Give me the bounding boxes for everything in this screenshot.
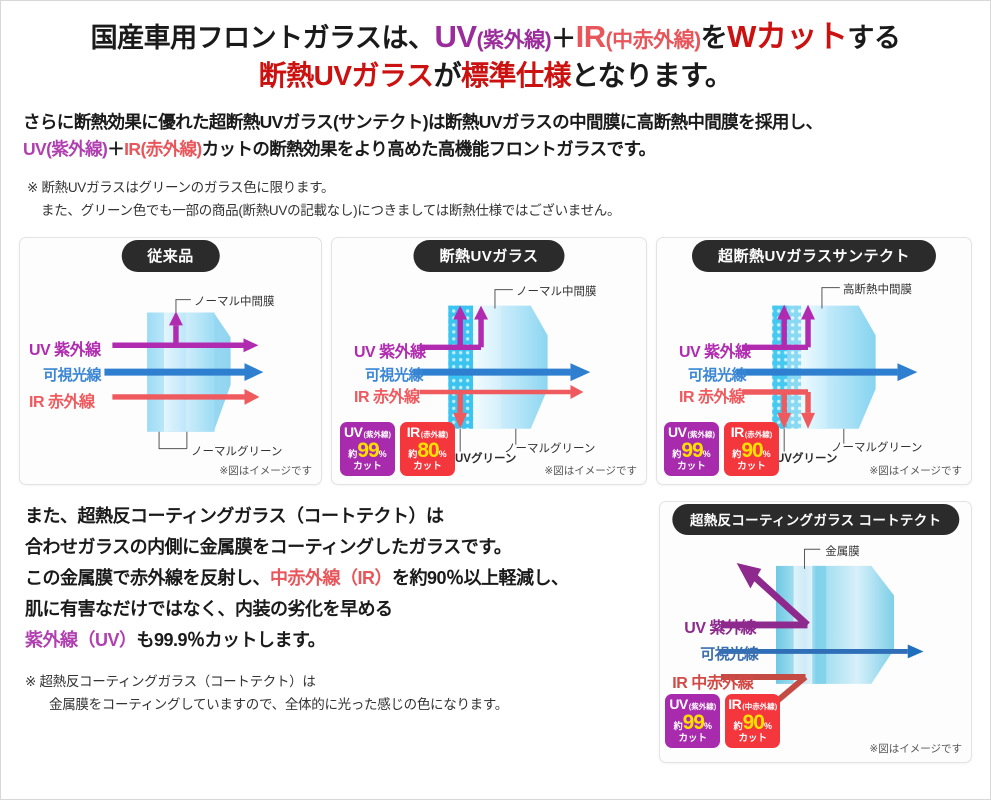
leader-top-conventional: ノーマル中間膜 — [194, 293, 275, 309]
label-visible-coatect: 可視光線 — [700, 643, 758, 664]
sub-line-1: さらに断熱効果に優れた超断熱UVガラス(サンテクト)は断熱UVガラスの中間膜に高… — [23, 109, 968, 136]
heading-seg-1: 国産車用フロントガラスは、 — [91, 23, 435, 53]
top-note-1: ※ 断熱UVガラスはグリーンのガラス色に限ります。 — [27, 177, 968, 200]
image-note-suntect: ※図はイメージです — [869, 463, 962, 478]
top-notes: ※ 断熱UVガラスはグリーンのガラス色に限ります。 また、グリーン色でも一部の商… — [1, 163, 990, 223]
badge-ir-top-4: IR(中赤外線) — [725, 697, 780, 711]
badges-coatect: UV(紫外線) 約99% カット IR(中赤外線) 約90% カット — [665, 694, 780, 748]
badge-ir-sub-3: (赤外線) — [745, 431, 773, 439]
badge-ir-main-4: IR — [728, 697, 741, 711]
heading-tail: となります。 — [571, 60, 732, 91]
bottom-line-3b: を約90％以上軽減し、 — [392, 568, 569, 588]
label-visible-uvir: 可視光線 — [365, 364, 423, 385]
badge-uv-num: 99 — [357, 440, 378, 461]
badge-ir-num-4: 90 — [743, 712, 764, 733]
heading-uv-paren: (紫外線) — [477, 29, 552, 52]
heading-plus: ＋ — [551, 25, 576, 53]
label-ir-suntect: IR 赤外線 — [679, 383, 744, 407]
bottom-line-2: 合わせガラスの内側に金属膜をコーティングしたガラスです。 — [19, 532, 650, 563]
leader-top-uvir: ノーマル中間膜 — [516, 283, 597, 299]
panel-title-conventional: 従来品 — [121, 240, 220, 272]
sub-description: さらに断熱効果に優れた超断熱UVガラス(サンテクト)は断熱UVガラスの中間膜に高… — [1, 97, 990, 163]
label-ir-uvir: IR 赤外線 — [354, 383, 419, 407]
label-visible-suntect: 可視光線 — [688, 364, 746, 385]
heading-red-1: 断熱UVガラス — [259, 60, 434, 91]
badge-ir-pct: % — [439, 450, 447, 459]
image-note-coatect: ※図はイメージです — [869, 741, 962, 756]
heading-line-1: 国産車用フロントガラスは、UV(紫外線)＋IR(中赤外線)をWカットする — [11, 19, 980, 55]
badge-uv-sub-3: (紫外線) — [687, 431, 715, 439]
badge-ir-mid: 約80% — [400, 440, 455, 461]
badge-ir-uvir: IR(赤外線) 約80% カット — [400, 422, 455, 476]
sub-plus: ＋ — [107, 139, 124, 159]
panel-coatect: 超熱反コーティングガラス コートテクト — [659, 501, 972, 763]
badge-ir-bot-4: カット — [725, 734, 780, 744]
badges-suntect: UV(紫外線) 約99% カット IR(赤外線) 約90% カット — [664, 422, 779, 476]
bottom-line-3: この金属膜で赤外線を反射し、中赤外線（IR）を約90％以上軽減し、 — [19, 563, 650, 594]
leader-right-uvir: ノーマルグリーン — [504, 440, 595, 456]
label-uv-coatect: UV 紫外線 — [684, 614, 756, 638]
leader-top-suntect: 高断熱中間膜 — [843, 281, 912, 297]
panel-suntect: 超断熱UVガラスサンテクト — [656, 237, 972, 485]
panel-uvir-glass: 断熱UVガラス — [331, 237, 647, 485]
badge-ir-bot-3: カット — [724, 462, 779, 472]
panel-title-uvir-glass: 断熱UVガラス — [413, 240, 564, 272]
badge-ir-bot: カット — [400, 462, 455, 472]
badge-ir-suntect: IR(赤外線) 約90% カット — [724, 422, 779, 476]
label-ir-conventional: IR 赤外線 — [29, 388, 94, 412]
badge-ir-num-3: 90 — [741, 440, 762, 461]
label-ir-coatect: IR 中赤外線 — [672, 669, 753, 693]
badge-uv-uvir: UV(紫外線) 約99% カット — [340, 422, 395, 476]
sub-line-2: UV(紫外線)＋IR(赤外線)カットの断熱効果をより高めた高機能フロントガラスで… — [23, 136, 968, 163]
bottom-line-5-uv: 紫外線（UV） — [25, 630, 137, 650]
sub-ir-text: IR(赤外線) — [124, 139, 201, 159]
badge-uv-main-3: UV — [668, 425, 686, 439]
bottom-notes: ※ 超熱反コーティングガラス（コートテクト）は 金属膜をコーティングしていますの… — [19, 670, 650, 717]
badge-uv-bot-4: カット — [665, 734, 720, 744]
bottom-line-5: 紫外線（UV）も99.9％カットします。 — [19, 625, 650, 656]
badge-uv-mid-4: 約99% — [665, 712, 720, 733]
heading-red-2: 標準仕様 — [461, 60, 571, 91]
infographic-page: 国産車用フロントガラスは、UV(紫外線)＋IR(中赤外線)をWカットする 断熱U… — [0, 0, 991, 800]
badge-ir-coatect: IR(中赤外線) 約90% カット — [725, 694, 780, 748]
leader-right-suntect: ノーマルグリーン — [831, 439, 922, 455]
badge-ir-pct-3: % — [763, 450, 771, 459]
bottom-line-1: また、超熱反コーティングガラス（コートテクト）は — [19, 501, 650, 532]
badge-uv-num-3: 99 — [681, 440, 702, 461]
badge-ir-top-3: IR(赤外線) — [724, 425, 779, 439]
badge-uv-bot-3: カット — [664, 462, 719, 472]
sub-uv-text: UV(紫外線) — [23, 139, 107, 159]
badge-uv-sub-4: (紫外線) — [689, 703, 717, 711]
heading-ir: IR — [576, 19, 606, 54]
badges-uvir: UV(紫外線) 約99% カット IR(赤外線) 約80% カット — [340, 422, 455, 476]
badge-uv-pre-4: 約 — [674, 722, 683, 731]
badge-ir-mid-3: 約90% — [724, 440, 779, 461]
badge-ir-sub-4: (中赤外線) — [742, 703, 777, 711]
bottom-line-3-ir: 中赤外線（IR） — [270, 568, 392, 588]
badge-uv-pct: % — [379, 450, 387, 459]
badge-uv-pct-3: % — [703, 450, 711, 459]
heading-seg-2: を — [701, 23, 728, 53]
badge-uv-pct-4: % — [704, 722, 712, 731]
leader-bottom-conventional: ノーマルグリーン — [191, 443, 282, 459]
badge-ir-pre-4: 約 — [734, 722, 743, 731]
image-note-conventional: ※図はイメージです — [219, 463, 312, 478]
badge-uv-mid-3: 約99% — [664, 440, 719, 461]
image-note-uvir: ※図はイメージです — [544, 463, 637, 478]
bottom-text-block: また、超熱反コーティングガラス（コートテクト）は 合わせガラスの内側に金属膜をコ… — [19, 501, 650, 763]
label-uv-conventional: UV 紫外線 — [29, 336, 101, 360]
badge-uv-pre-3: 約 — [672, 450, 681, 459]
badge-uv-coatect: UV(紫外線) 約99% カット — [665, 694, 720, 748]
label-uv-suntect: UV 紫外線 — [679, 338, 751, 362]
badge-uv-top-3: UV(紫外線) — [664, 425, 719, 439]
bottom-note-2: 金属膜をコーティングしていますので、全体的に光った感じの色になります。 — [19, 693, 650, 717]
heading-line-2: 断熱UVガラスが標準仕様となります。 — [11, 58, 980, 93]
badge-ir-top: IR(赤外線) — [400, 425, 455, 439]
badge-ir-pct-4: % — [764, 722, 772, 731]
badge-ir-pre: 約 — [408, 450, 417, 459]
badge-uv-main: UV — [344, 425, 362, 439]
bottom-line-3a: この金属膜で赤外線を反射し、 — [25, 568, 270, 588]
badge-uv-bot: カット — [340, 462, 395, 472]
main-heading: 国産車用フロントガラスは、UV(紫外線)＋IR(中赤外線)をWカットする 断熱U… — [1, 1, 990, 97]
sub-tail: カットの断熱効果をより高めた高機能フロントガラスです。 — [202, 139, 656, 159]
bottom-line-5b: も99.9％カットします。 — [137, 630, 326, 650]
bottom-line-4: 肌に有害なだけではなく、内装の劣化を早める — [19, 594, 650, 625]
top-note-2: また、グリーン色でも一部の商品(断熱UVの記載なし)につきましては断熱仕様ではご… — [27, 200, 968, 223]
badge-uv-top-4: UV(紫外線) — [665, 697, 720, 711]
badge-uv-top: UV(紫外線) — [340, 425, 395, 439]
badge-ir-main-3: IR — [731, 425, 744, 439]
comparison-panels: 従来品 — [1, 223, 990, 485]
heading-seg-3: する — [847, 23, 900, 53]
badge-uv-sub: (紫外線) — [363, 431, 391, 439]
heading-ir-paren: (中赤外線) — [606, 29, 701, 52]
heading-mid: が — [433, 60, 461, 91]
bottom-section: また、超熱反コーティングガラス（コートテクト）は 合わせガラスの内側に金属膜をコ… — [1, 485, 990, 763]
bottom-note-1: ※ 超熱反コーティングガラス（コートテクト）は — [19, 670, 650, 694]
heading-uv: UV — [435, 19, 477, 54]
badge-ir-num: 80 — [417, 440, 438, 461]
panel-title-suntect: 超断熱UVガラスサンテクト — [692, 240, 936, 272]
badge-ir-mid-4: 約90% — [725, 712, 780, 733]
badge-uv-pre: 約 — [348, 450, 357, 459]
badge-ir-pre-3: 約 — [732, 450, 741, 459]
badge-ir-main: IR — [407, 425, 420, 439]
badge-ir-sub: (赤外線) — [421, 431, 449, 439]
label-visible-conventional: 可視光線 — [43, 364, 101, 385]
badge-uv-suntect: UV(紫外線) 約99% カット — [664, 422, 719, 476]
label-uv-uvir: UV 紫外線 — [354, 338, 426, 362]
panel-title-coatect: 超熱反コーティングガラス コートテクト — [672, 504, 959, 535]
panel-conventional: 従来品 — [19, 237, 322, 485]
badge-uv-mid: 約99% — [340, 440, 395, 461]
badge-uv-main-4: UV — [669, 697, 687, 711]
leader-top-coatect: 金属膜 — [825, 543, 860, 559]
badge-uv-num-4: 99 — [683, 712, 704, 733]
heading-wcut: Wカット — [727, 19, 847, 54]
